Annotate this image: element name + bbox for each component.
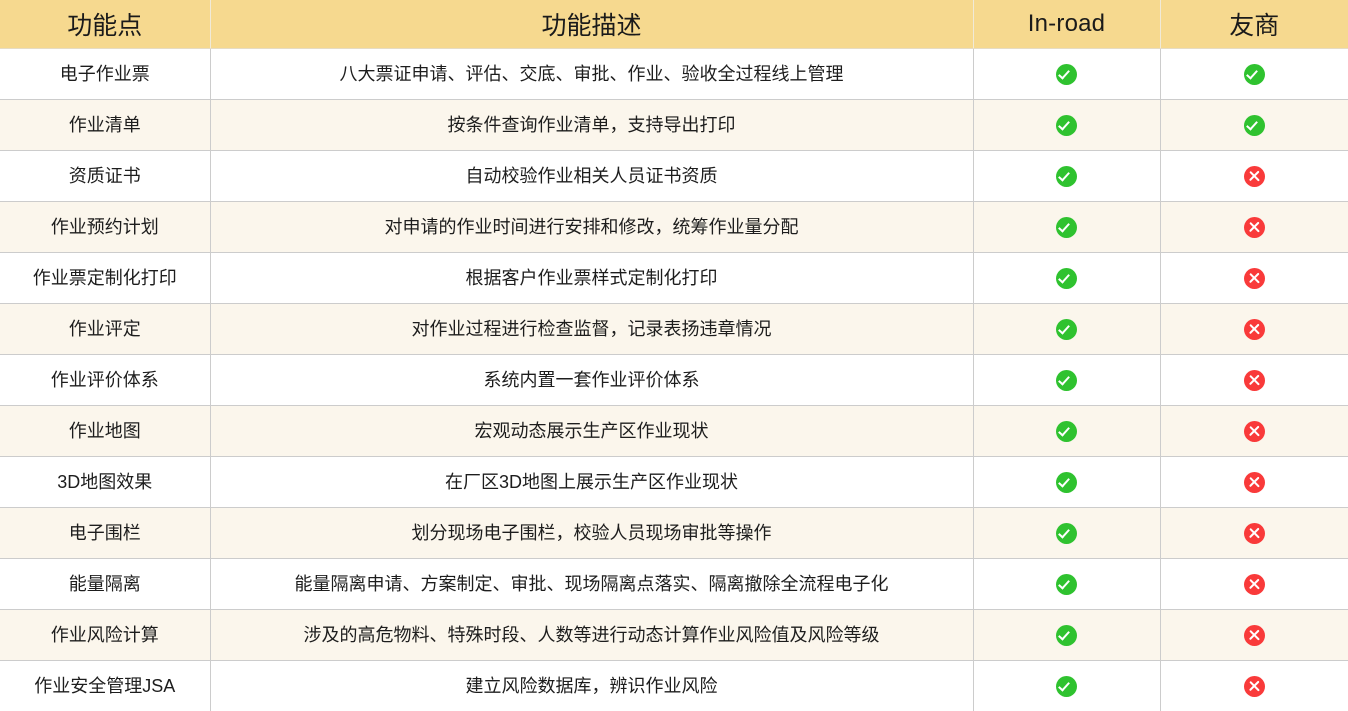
cross-circle-icon <box>1244 523 1265 544</box>
column-header-feature-description: 功能描述 <box>210 0 973 49</box>
cell-competitor-status <box>1160 559 1348 610</box>
table-row: 作业安全管理JSA建立风险数据库，辨识作业风险 <box>0 661 1348 711</box>
cross-circle-icon <box>1244 421 1265 442</box>
check-circle-icon <box>1056 217 1077 238</box>
cell-in-road-status <box>973 508 1160 559</box>
table-row: 作业评定对作业过程进行检查监督，记录表扬违章情况 <box>0 304 1348 355</box>
cell-feature-point: 作业清单 <box>0 100 210 151</box>
table-row: 作业票定制化打印根据客户作业票样式定制化打印 <box>0 253 1348 304</box>
table-row: 电子围栏划分现场电子围栏，校验人员现场审批等操作 <box>0 508 1348 559</box>
cross-circle-icon <box>1244 319 1265 340</box>
check-circle-icon <box>1056 676 1077 697</box>
cell-feature-point: 资质证书 <box>0 151 210 202</box>
cell-competitor-status <box>1160 49 1348 100</box>
cell-feature-description: 对申请的作业时间进行安排和修改，统筹作业量分配 <box>210 202 973 253</box>
column-header-competitor: 友商 <box>1160 0 1348 49</box>
cell-competitor-status <box>1160 406 1348 457</box>
cell-feature-description: 能量隔离申请、方案制定、审批、现场隔离点落实、隔离撤除全流程电子化 <box>210 559 973 610</box>
check-circle-icon <box>1056 115 1077 136</box>
cell-feature-description: 建立风险数据库，辨识作业风险 <box>210 661 973 711</box>
cell-feature-description: 在厂区3D地图上展示生产区作业现状 <box>210 457 973 508</box>
cell-feature-point: 作业安全管理JSA <box>0 661 210 711</box>
cross-circle-icon <box>1244 625 1265 646</box>
cell-feature-point: 作业票定制化打印 <box>0 253 210 304</box>
cell-feature-point: 电子围栏 <box>0 508 210 559</box>
cell-competitor-status <box>1160 355 1348 406</box>
cell-feature-description: 划分现场电子围栏，校验人员现场审批等操作 <box>210 508 973 559</box>
cell-in-road-status <box>973 406 1160 457</box>
check-circle-icon <box>1056 64 1077 85</box>
column-header-in-road: In-road <box>973 0 1160 49</box>
cross-circle-icon <box>1244 217 1265 238</box>
table-row: 作业地图宏观动态展示生产区作业现状 <box>0 406 1348 457</box>
column-header-feature-point: 功能点 <box>0 0 210 49</box>
check-circle-icon <box>1056 370 1077 391</box>
cell-in-road-status <box>973 49 1160 100</box>
cell-competitor-status <box>1160 100 1348 151</box>
check-circle-icon <box>1244 115 1265 136</box>
cell-feature-point: 作业预约计划 <box>0 202 210 253</box>
check-circle-icon <box>1056 421 1077 442</box>
table-row: 电子作业票八大票证申请、评估、交底、审批、作业、验收全过程线上管理 <box>0 49 1348 100</box>
cell-feature-point: 作业评价体系 <box>0 355 210 406</box>
table-row: 能量隔离能量隔离申请、方案制定、审批、现场隔离点落实、隔离撤除全流程电子化 <box>0 559 1348 610</box>
cell-competitor-status <box>1160 304 1348 355</box>
table-row: 资质证书自动校验作业相关人员证书资质 <box>0 151 1348 202</box>
cell-in-road-status <box>973 661 1160 711</box>
cross-circle-icon <box>1244 268 1265 289</box>
cell-competitor-status <box>1160 508 1348 559</box>
cross-circle-icon <box>1244 574 1265 595</box>
cell-feature-description: 涉及的高危物料、特殊时段、人数等进行动态计算作业风险值及风险等级 <box>210 610 973 661</box>
table-header: 功能点 功能描述 In-road 友商 <box>0 0 1348 49</box>
check-circle-icon <box>1056 319 1077 340</box>
cell-competitor-status <box>1160 457 1348 508</box>
cell-in-road-status <box>973 610 1160 661</box>
table-row: 3D地图效果在厂区3D地图上展示生产区作业现状 <box>0 457 1348 508</box>
check-circle-icon <box>1056 523 1077 544</box>
feature-comparison-table: 功能点 功能描述 In-road 友商 电子作业票八大票证申请、评估、交底、审批… <box>0 0 1348 711</box>
table-body: 电子作业票八大票证申请、评估、交底、审批、作业、验收全过程线上管理作业清单按条件… <box>0 49 1348 711</box>
cell-in-road-status <box>973 457 1160 508</box>
check-circle-icon <box>1056 166 1077 187</box>
cross-circle-icon <box>1244 166 1265 187</box>
cell-competitor-status <box>1160 202 1348 253</box>
check-circle-icon <box>1056 268 1077 289</box>
table-row: 作业风险计算涉及的高危物料、特殊时段、人数等进行动态计算作业风险值及风险等级 <box>0 610 1348 661</box>
cell-feature-point: 3D地图效果 <box>0 457 210 508</box>
cell-feature-description: 系统内置一套作业评价体系 <box>210 355 973 406</box>
cross-circle-icon <box>1244 370 1265 391</box>
check-circle-icon <box>1056 574 1077 595</box>
check-circle-icon <box>1056 472 1077 493</box>
header-row: 功能点 功能描述 In-road 友商 <box>0 0 1348 49</box>
cross-circle-icon <box>1244 676 1265 697</box>
cell-feature-point: 能量隔离 <box>0 559 210 610</box>
cell-competitor-status <box>1160 661 1348 711</box>
cell-feature-description: 宏观动态展示生产区作业现状 <box>210 406 973 457</box>
cell-competitor-status <box>1160 253 1348 304</box>
table-row: 作业预约计划对申请的作业时间进行安排和修改，统筹作业量分配 <box>0 202 1348 253</box>
cell-feature-description: 八大票证申请、评估、交底、审批、作业、验收全过程线上管理 <box>210 49 973 100</box>
table-row: 作业评价体系系统内置一套作业评价体系 <box>0 355 1348 406</box>
check-circle-icon <box>1244 64 1265 85</box>
cell-in-road-status <box>973 202 1160 253</box>
cell-feature-point: 电子作业票 <box>0 49 210 100</box>
cell-feature-description: 根据客户作业票样式定制化打印 <box>210 253 973 304</box>
cell-in-road-status <box>973 253 1160 304</box>
cell-feature-point: 作业风险计算 <box>0 610 210 661</box>
table-row: 作业清单按条件查询作业清单，支持导出打印 <box>0 100 1348 151</box>
cell-competitor-status <box>1160 610 1348 661</box>
cell-in-road-status <box>973 100 1160 151</box>
cell-in-road-status <box>973 151 1160 202</box>
cell-feature-point: 作业评定 <box>0 304 210 355</box>
cell-in-road-status <box>973 559 1160 610</box>
cell-in-road-status <box>973 304 1160 355</box>
cell-in-road-status <box>973 355 1160 406</box>
cell-feature-description: 按条件查询作业清单，支持导出打印 <box>210 100 973 151</box>
cell-feature-description: 对作业过程进行检查监督，记录表扬违章情况 <box>210 304 973 355</box>
cell-competitor-status <box>1160 151 1348 202</box>
check-circle-icon <box>1056 625 1077 646</box>
cell-feature-point: 作业地图 <box>0 406 210 457</box>
cell-feature-description: 自动校验作业相关人员证书资质 <box>210 151 973 202</box>
cross-circle-icon <box>1244 472 1265 493</box>
